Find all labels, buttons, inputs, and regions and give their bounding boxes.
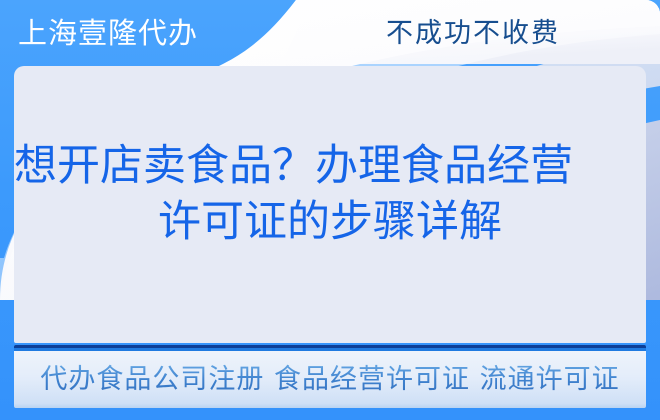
brand-name: 上海壹隆代办: [18, 13, 198, 53]
headline-line-1: 想开店卖食品？办理食品经营: [0, 138, 660, 194]
keywords-bar: 代办食品公司注册 食品经营许可证 流通许可证: [14, 345, 646, 408]
slogan-text: 不成功不收费: [386, 16, 560, 52]
headline-line-2: 许可证的步骤详解: [0, 194, 660, 250]
promo-banner: 上海壹隆代办 不成功不收费 想开店卖食品？办理食品经营 许可证的步骤详解 代办食…: [0, 0, 660, 420]
headline: 想开店卖食品？办理食品经营 许可证的步骤详解: [0, 138, 660, 250]
keywords-text: 代办食品公司注册 食品经营许可证 流通许可证: [40, 359, 619, 397]
